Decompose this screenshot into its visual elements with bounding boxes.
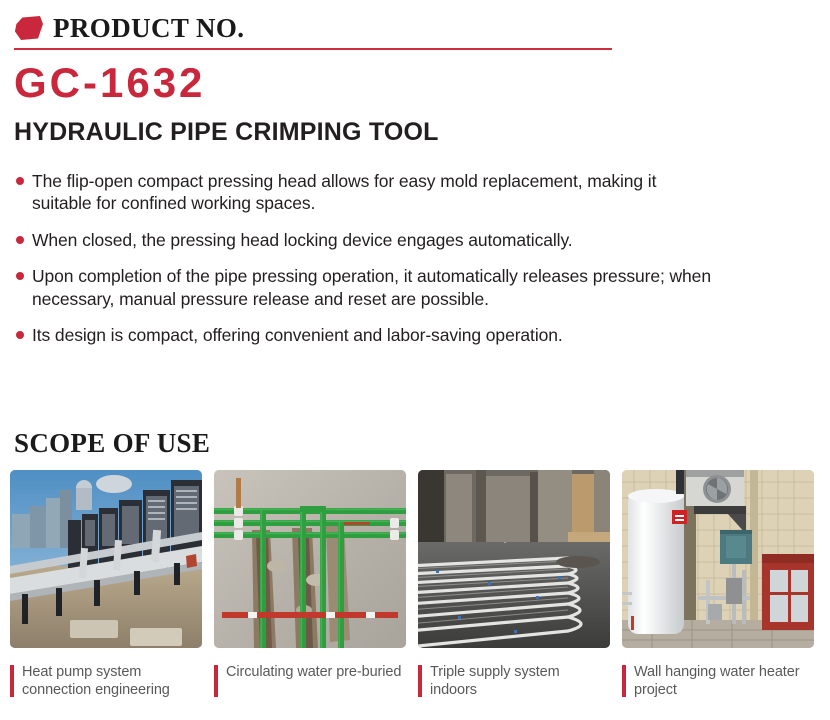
feature-list: The flip-open compact pressing head allo… xyxy=(14,170,714,346)
page-title: PRODUCT NO. xyxy=(53,15,244,42)
scope-of-use-title: SCOPE OF USE xyxy=(14,430,210,457)
feature-text: The flip-open compact pressing head allo… xyxy=(32,171,656,213)
page-header: PRODUCT NO. xyxy=(14,10,814,46)
scope-caption: Triple supply system indoors xyxy=(418,664,610,699)
bullet-icon xyxy=(16,331,24,339)
tag-icon xyxy=(14,15,44,41)
caption-bar-icon xyxy=(622,665,626,697)
scope-card: Wall hanging water heater project xyxy=(622,470,814,699)
feature-item: The flip-open compact pressing head allo… xyxy=(14,170,714,215)
product-name: HYDRAULIC PIPE CRIMPING TOOL xyxy=(14,119,439,147)
caption-bar-icon xyxy=(418,665,422,697)
caption-text: Circulating water pre-buried xyxy=(226,664,401,682)
feature-text: Its design is compact, offering convenie… xyxy=(32,325,563,345)
caption-bar-icon xyxy=(10,665,14,697)
caption-bar-icon xyxy=(214,665,218,697)
scope-card: Triple supply system indoors xyxy=(418,470,610,699)
scope-card: Heat pump system connection engineering xyxy=(10,470,202,699)
feature-item: When closed, the pressing head locking d… xyxy=(14,229,714,251)
scope-card: Circulating water pre-buried xyxy=(214,470,406,699)
scope-caption: Circulating water pre-buried xyxy=(214,664,406,697)
feature-text: When closed, the pressing head locking d… xyxy=(32,230,573,250)
bullet-icon xyxy=(16,236,24,244)
bullet-icon xyxy=(16,272,24,280)
photo-underfloor-heating xyxy=(418,470,610,648)
feature-item: Upon completion of the pipe pressing ope… xyxy=(14,265,714,310)
photo-wall-water-heater xyxy=(622,470,814,648)
bullet-icon xyxy=(16,177,24,185)
header-divider xyxy=(14,48,612,50)
caption-text: Triple supply system indoors xyxy=(430,664,610,699)
photo-green-pipes-wall xyxy=(214,470,406,648)
feature-item: Its design is compact, offering convenie… xyxy=(14,324,714,346)
caption-text: Wall hanging water heater project xyxy=(634,664,814,699)
scope-gallery: Heat pump system connection engineering xyxy=(10,470,810,699)
feature-text: Upon completion of the pipe pressing ope… xyxy=(32,266,711,308)
scope-caption: Wall hanging water heater project xyxy=(622,664,814,699)
caption-text: Heat pump system connection engineering xyxy=(22,664,202,699)
model-number: GC-1632 xyxy=(14,62,205,104)
scope-caption: Heat pump system connection engineering xyxy=(10,664,202,699)
photo-heat-pump-rooftop xyxy=(10,470,202,648)
